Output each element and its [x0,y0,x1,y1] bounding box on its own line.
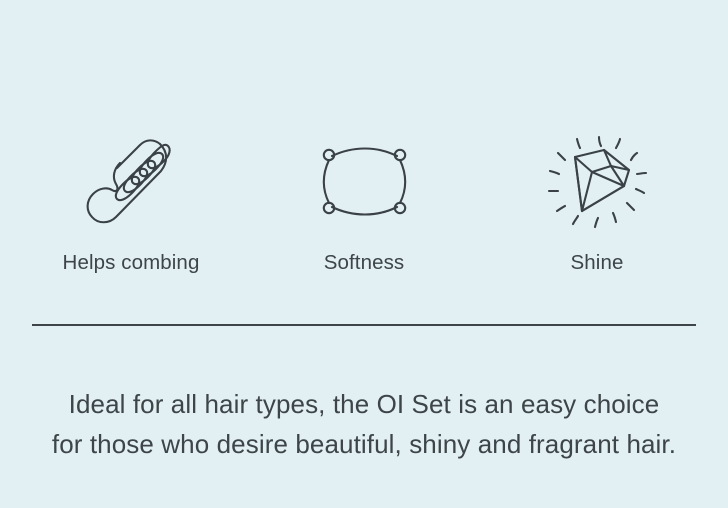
feature-row: Helps combing [0,128,728,275]
feature-label: Helps combing [63,252,200,275]
feature-item-shine: Shine [494,128,700,275]
section-divider [32,324,696,326]
product-benefits-panel: Helps combing [0,0,728,508]
feature-label: Shine [571,252,624,275]
feature-item-softness: Softness [261,128,467,275]
comb-icon [76,128,186,234]
feature-label: Softness [324,252,405,275]
description-text: Ideal for all hair types, the OI Set is … [50,384,678,464]
pillow-icon [309,128,419,234]
feature-item-helps-combing: Helps combing [28,128,234,275]
diamond-icon [542,128,652,234]
